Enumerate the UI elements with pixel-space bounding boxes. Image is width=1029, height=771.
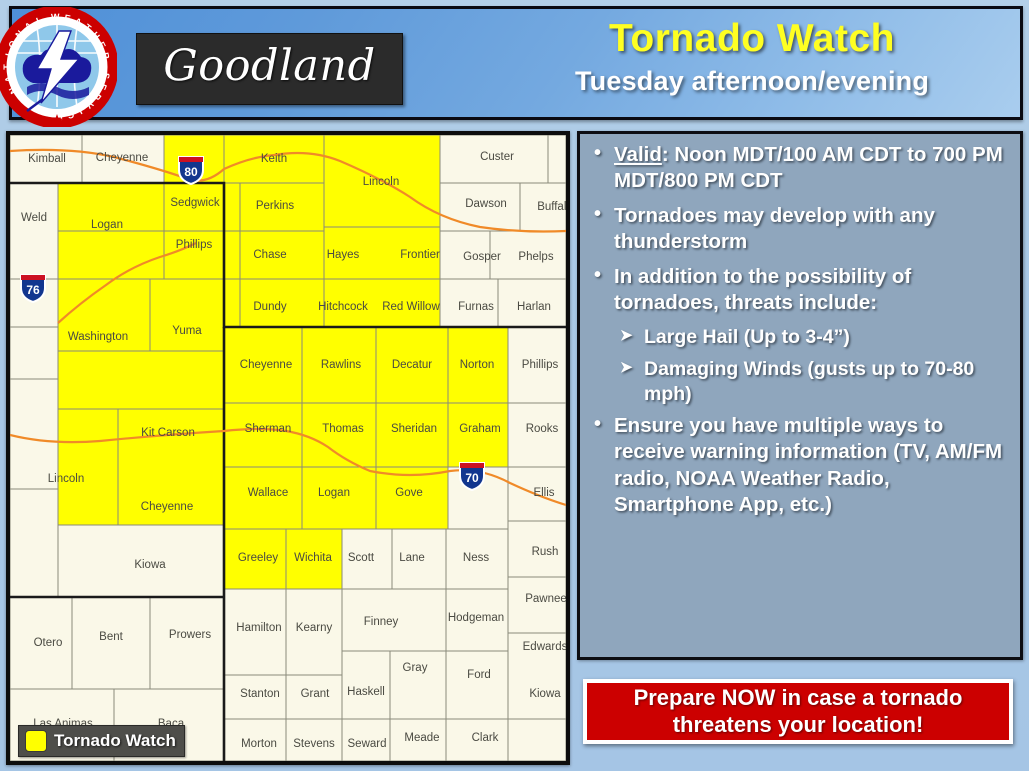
county-label: Scott — [348, 552, 375, 564]
county-label: Dawson — [465, 198, 507, 210]
county-label: Wallace — [248, 487, 288, 499]
legend-label: Tornado Watch — [54, 731, 176, 751]
county-label: Yuma — [172, 325, 202, 337]
county-label: Hitchcock — [318, 301, 368, 313]
county-label: Hamilton — [236, 622, 281, 634]
interstate-shield-76: 76 — [21, 275, 45, 302]
page-title: Tornado Watch — [482, 17, 1022, 62]
county-label: Morton — [241, 738, 277, 750]
county-label: Prowers — [169, 629, 211, 641]
county-label: Lincoln — [48, 473, 84, 485]
svg-text:80: 80 — [184, 165, 198, 179]
county-label: Gove — [395, 487, 423, 499]
county-label: Seward — [348, 738, 387, 750]
county-label: Hayes — [327, 249, 360, 261]
sub-bullet-item: Large Hail (Up to 3-4”) — [586, 325, 1010, 350]
county-label: Phillips — [522, 359, 559, 371]
county-label: Cheyenne — [240, 359, 292, 371]
county-label: Hodgeman — [448, 612, 504, 624]
county-label: Keith — [261, 153, 287, 165]
county-label: Meade — [404, 732, 439, 744]
county-label: Rush — [532, 546, 559, 558]
office-name-label: Goodland — [163, 41, 375, 97]
county-label: Decatur — [392, 359, 432, 371]
bullet-item: In addition to the possibility of tornad… — [586, 264, 1010, 316]
bullet-item: Ensure you have multiple ways to receive… — [586, 413, 1010, 517]
county-label: Ford — [467, 669, 491, 681]
header-banner: Goodland Tornado Watch Tuesday afternoon… — [9, 6, 1023, 120]
svg-text:W: W — [51, 12, 60, 22]
county-label: Otero — [34, 637, 63, 649]
county-label: Stevens — [293, 738, 335, 750]
county-label: Haskell — [347, 686, 385, 698]
county-label: Custer — [480, 151, 514, 163]
county-label: Edwards — [523, 641, 566, 653]
county-label: Rawlins — [321, 359, 362, 371]
county-label: Logan — [318, 487, 350, 499]
county-label: Thomas — [322, 423, 364, 435]
county-label: Bent — [99, 631, 123, 643]
county-label: Buffalo — [537, 201, 566, 213]
county-label: Ness — [463, 552, 489, 564]
bullet-item: Tornadoes may develop with any thunderst… — [586, 203, 1010, 255]
svg-text:76: 76 — [26, 283, 40, 297]
county-label: Pawnee — [525, 593, 566, 605]
svg-text:T: T — [2, 64, 12, 70]
county-label: Gray — [403, 662, 428, 674]
county-label: Cheyenne — [96, 152, 148, 164]
county-label: Chase — [253, 249, 286, 261]
county-label: Phelps — [518, 251, 553, 263]
county-label: Kimball — [28, 153, 66, 165]
county-label: Sheridan — [391, 423, 437, 435]
county-label: Weld — [21, 212, 47, 224]
county-label: Greeley — [238, 552, 279, 564]
interstate-shield-70: 70 — [460, 463, 484, 490]
bullet-item: Valid: Noon MDT/100 AM CDT to 700 PM MDT… — [586, 142, 1010, 194]
call-to-action-text: Prepare NOW in case a tornado threatens … — [587, 685, 1009, 738]
county-label: Furnas — [458, 301, 494, 313]
bullet-list: Valid: Noon MDT/100 AM CDT to 700 PM MDT… — [586, 142, 1010, 518]
map-graphic: KimballCheyenneKeithLincolnCusterSedgwic… — [10, 135, 566, 761]
title-block: Tornado Watch Tuesday afternoon/evening — [482, 17, 1022, 97]
county-label: Finney — [364, 616, 399, 628]
slide-background: Goodland Tornado Watch Tuesday afternoon… — [0, 0, 1029, 771]
map-legend: Tornado Watch — [18, 725, 185, 757]
svg-text:70: 70 — [465, 471, 479, 485]
county-label: Graham — [459, 423, 501, 435]
county-label: Kiowa — [134, 559, 166, 571]
interstate-shield-80: 80 — [179, 157, 203, 184]
county-label: Norton — [460, 359, 495, 371]
county-label: Dundy — [253, 301, 286, 313]
county-label: Clark — [472, 732, 499, 744]
county-label: Sedgwick — [170, 197, 219, 209]
county-label: Washington — [68, 331, 128, 343]
bullet-prefix: Valid — [614, 143, 662, 166]
office-name-box: Goodland — [136, 33, 403, 105]
county-label: Red Willow — [382, 301, 440, 313]
county-label: Ellis — [533, 487, 554, 499]
call-to-action-box: Prepare NOW in case a tornado threatens … — [583, 679, 1013, 744]
county-label: Rooks — [526, 423, 559, 435]
county-label: Lincoln — [363, 176, 399, 188]
county-label: Wichita — [294, 552, 332, 564]
county-label: Grant — [301, 688, 331, 700]
county-label: Stanton — [240, 688, 280, 700]
county-label: Phillips — [176, 239, 213, 251]
page-subtitle: Tuesday afternoon/evening — [482, 66, 1022, 97]
county-label: Lane — [399, 552, 425, 564]
county-label: Kearny — [296, 622, 333, 634]
county-label: Logan — [91, 219, 123, 231]
county-label: Sherman — [245, 423, 292, 435]
county-watch-map[interactable]: KimballCheyenneKeithLincolnCusterSedgwic… — [6, 131, 570, 765]
watch-details-panel: Valid: Noon MDT/100 AM CDT to 700 PM MDT… — [577, 131, 1023, 660]
legend-color-swatch — [25, 730, 47, 752]
county-label: Perkins — [256, 200, 295, 212]
county-label: Harlan — [517, 301, 551, 313]
county-label: Kit Carson — [141, 427, 195, 439]
sub-bullet-item: Damaging Winds (gusts up to 70-80 mph) — [586, 357, 1010, 407]
county-label: Cheyenne — [141, 501, 193, 513]
county-label: Gosper — [463, 251, 501, 263]
national-weather-service-logo: NWS N A T I O N A L W E A T H E R S E R … — [0, 7, 117, 127]
county-label: Kiowa — [529, 688, 561, 700]
county-label: Frontier — [400, 249, 440, 261]
